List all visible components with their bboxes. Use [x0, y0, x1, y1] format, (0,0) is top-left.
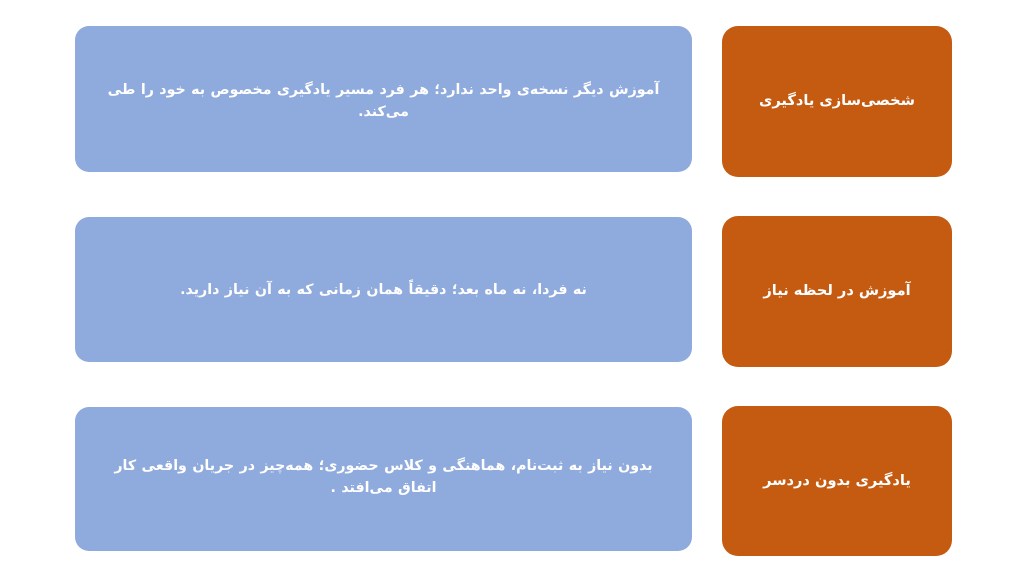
- slide-canvas: آموزش دیگر نسخه‌ی واحد ندارد؛ هر فرد مسی…: [0, 0, 1024, 576]
- title-box-2[interactable]: آموزش در لحظه نیاز: [722, 216, 952, 367]
- title-box-1[interactable]: شخصی‌سازی یادگیری: [722, 26, 952, 177]
- description-text-3: بدون نیاز به ثبت‌نام، هماهنگی و کلاس حضو…: [101, 455, 666, 499]
- title-box-3[interactable]: یادگیری بدون دردسر: [722, 406, 952, 556]
- title-text-3: یادگیری بدون دردسر: [732, 471, 942, 491]
- title-text-2: آموزش در لحظه نیاز: [732, 281, 942, 301]
- description-box-1[interactable]: آموزش دیگر نسخه‌ی واحد ندارد؛ هر فرد مسی…: [75, 26, 692, 172]
- title-text-1: شخصی‌سازی یادگیری: [732, 91, 942, 111]
- description-text-1: آموزش دیگر نسخه‌ی واحد ندارد؛ هر فرد مسی…: [101, 79, 666, 123]
- description-text-2: نه فردا، نه ماه بعد؛ دقیقاً همان زمانی ک…: [101, 279, 666, 301]
- description-box-2[interactable]: نه فردا، نه ماه بعد؛ دقیقاً همان زمانی ک…: [75, 217, 692, 362]
- description-box-3[interactable]: بدون نیاز به ثبت‌نام، هماهنگی و کلاس حضو…: [75, 407, 692, 551]
